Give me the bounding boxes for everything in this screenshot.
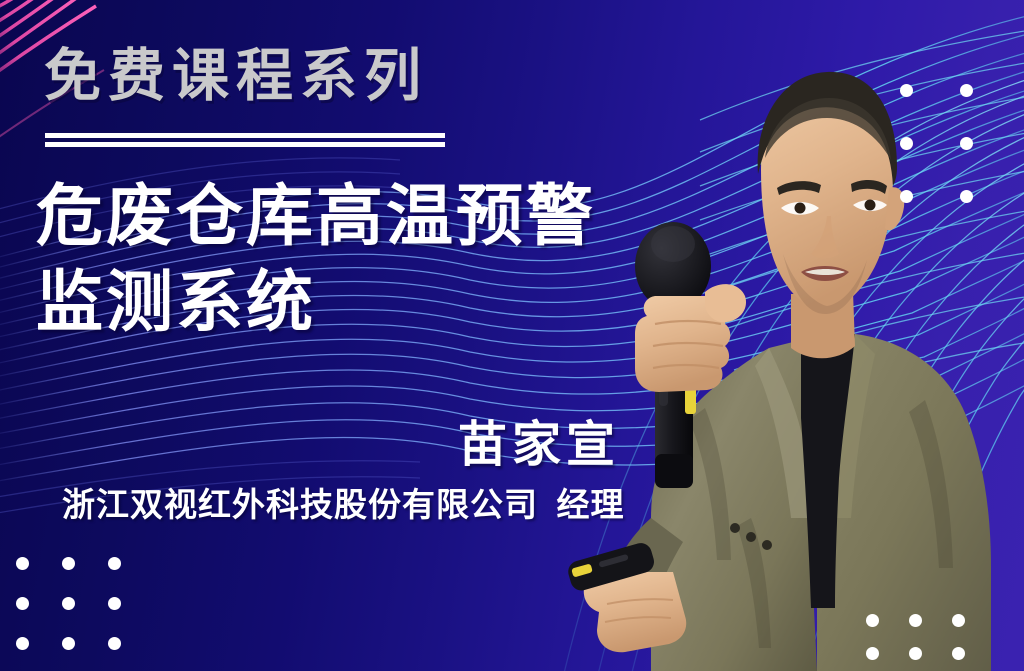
page-title: 危废仓库高温预警 监测系统: [36, 174, 596, 346]
poster-text-block: 免费课程系列 危废仓库高温预警 监测系统 苗家宣 浙江双视红外科技股份有限公司 …: [0, 0, 1024, 671]
divider-rule-bottom: [45, 142, 445, 147]
series-label: 免费课程系列: [44, 48, 428, 105]
divider-rule-top: [45, 133, 445, 138]
course-promo-poster: 免费课程系列 危废仓库高温预警 监测系统 苗家宣 浙江双视红外科技股份有限公司 …: [0, 0, 1024, 671]
speaker-affiliation: 浙江双视红外科技股份有限公司 经理: [62, 490, 625, 523]
title-divider-rules: [45, 133, 445, 147]
speaker-name: 苗家宣: [458, 420, 620, 469]
